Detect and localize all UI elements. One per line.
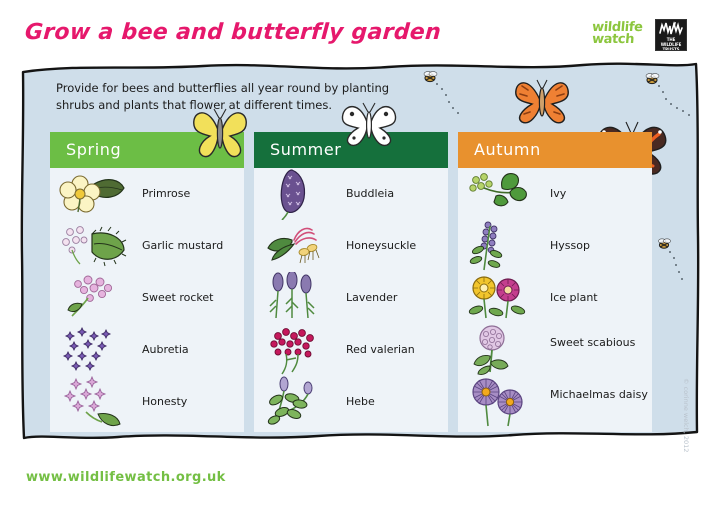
- lavender-icon: [262, 272, 340, 324]
- buddleia-icon: [262, 168, 340, 220]
- honeysuckle-icon: [262, 220, 340, 272]
- comma-butterfly-icon: [510, 74, 574, 126]
- panel-content: Provide for bees and butterflies all yea…: [18, 56, 702, 453]
- list-item: Honeysuckle: [254, 220, 448, 272]
- cabbage-white-butterfly-icon: [338, 98, 400, 148]
- plant-label: Sweet scabious: [550, 336, 650, 350]
- plant-label: Buddleia: [346, 187, 446, 201]
- plant-label: Garlic mustard: [142, 239, 242, 253]
- plant-label: Primrose: [142, 187, 242, 201]
- season-title-autumn: Autumn: [474, 140, 541, 159]
- honesty-icon: [58, 376, 136, 428]
- sweet-rocket-icon: [58, 272, 136, 324]
- list-item: Honesty: [50, 376, 244, 428]
- bee-top-left-icon: [418, 68, 478, 128]
- list-item: Aubretia: [50, 324, 244, 376]
- list-item: Buddleia: [254, 168, 448, 220]
- hyssop-icon: [466, 220, 544, 272]
- intro-line-1: Provide for bees and butterflies all yea…: [56, 80, 456, 97]
- plant-label: Red valerian: [346, 343, 446, 357]
- plant-label: Ivy: [550, 187, 650, 201]
- primrose-flower-icon: [58, 168, 136, 220]
- list-item: Ice plant: [458, 272, 652, 324]
- list-item: Hyssop: [458, 220, 652, 272]
- plant-label: Honeysuckle: [346, 239, 446, 253]
- plant-list-spring: Primrose: [50, 168, 244, 432]
- list-item: Sweet rocket: [50, 272, 244, 324]
- ivy-icon: [466, 168, 544, 220]
- copyright-credit: © corinne welch, 2012: [682, 378, 690, 468]
- aubretia-icon: [58, 324, 136, 376]
- season-header-autumn: Autumn: [458, 132, 652, 168]
- poster-header: Grow a bee and butterfly garden wildlife…: [0, 0, 720, 60]
- hebe-icon: [262, 376, 340, 428]
- logo-wordmark-line-2: watch: [591, 34, 646, 46]
- season-card-spring: Spring: [50, 132, 244, 432]
- red-valerian-icon: [262, 324, 340, 376]
- list-item: Michaelmas daisy: [458, 376, 652, 428]
- plant-label: Lavender: [346, 291, 446, 305]
- main-panel: Provide for bees and butterflies all yea…: [18, 56, 702, 453]
- list-item: Primrose: [50, 168, 244, 220]
- list-item: Lavender: [254, 272, 448, 324]
- season-title-summer: Summer: [270, 140, 342, 159]
- brimstone-butterfly-icon: [190, 104, 250, 160]
- season-card-summer: Summer Buddleia: [254, 132, 448, 432]
- michaelmas-daisy-icon: [466, 376, 544, 428]
- wildlife-trusts-badge: THE WILDLIFE TRUSTS: [655, 19, 687, 51]
- list-item: Garlic mustard: [50, 220, 244, 272]
- plant-label: Michaelmas daisy: [550, 388, 650, 402]
- plant-label: Hyssop: [550, 239, 650, 253]
- plant-label: Sweet rocket: [142, 291, 242, 305]
- list-item: Hebe: [254, 376, 448, 428]
- wildlife-trusts-badge-text: THE WILDLIFE TRUSTS: [656, 37, 686, 51]
- plant-label: Aubretia: [142, 343, 242, 357]
- plant-label: Hebe: [346, 395, 446, 409]
- list-item: Sweet scabious: [458, 324, 652, 376]
- season-card-autumn: Autumn: [458, 132, 652, 432]
- bee-right-icon: [654, 236, 702, 296]
- plant-label: Ice plant: [550, 291, 650, 305]
- plant-label: Honesty: [142, 395, 242, 409]
- badge-line-2: TRUSTS: [663, 47, 680, 51]
- season-title-spring: Spring: [66, 140, 121, 159]
- badger-icon: [658, 21, 684, 37]
- badge-line-1: THE WILDLIFE: [661, 37, 681, 47]
- wildlife-watch-logo: wildlife watch: [592, 22, 646, 46]
- website-url[interactable]: www.wildlifewatch.org.uk: [26, 470, 226, 485]
- ice-plant-icon: [466, 272, 544, 324]
- plant-list-summer: Buddleia: [254, 168, 448, 432]
- garlic-mustard-icon: [58, 220, 136, 272]
- poster-page: Grow a bee and butterfly garden wildlife…: [0, 0, 720, 509]
- plant-list-autumn: Ivy: [458, 168, 652, 432]
- list-item: Red valerian: [254, 324, 448, 376]
- page-title: Grow a bee and butterfly garden: [24, 20, 442, 45]
- sweet-scabious-icon: [466, 324, 544, 376]
- list-item: Ivy: [458, 168, 652, 220]
